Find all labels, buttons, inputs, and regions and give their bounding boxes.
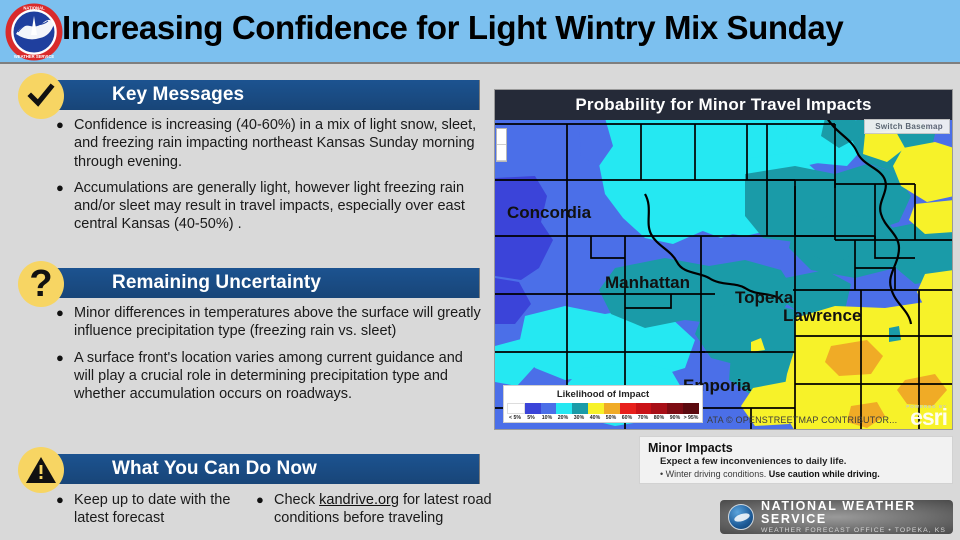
legend-swatch [507, 403, 525, 414]
section-header-what-you-can-do-now: What You Can Do Now [44, 454, 480, 484]
legend-swatch [667, 403, 683, 414]
legend-label: 90% [667, 415, 683, 421]
badge-text-group: NATIONAL WEATHER SERVICE WEATHER FORECAS… [761, 500, 953, 534]
svg-text:NATIONAL: NATIONAL [23, 6, 45, 11]
probability-map[interactable]: Probability for Minor Travel Impacts [494, 89, 953, 430]
bullet-dot-icon: ● [56, 304, 74, 341]
esri-wordmark: esri [906, 409, 947, 427]
bullet-list-remaining-uncertainty: ● Minor differences in temperatures abov… [56, 304, 486, 411]
legend-title: Likelihood of Impact [504, 389, 702, 400]
legend-swatch [556, 403, 572, 414]
map-title: Probability for Minor Travel Impacts [575, 95, 871, 115]
question-mark-icon: ? [18, 261, 64, 307]
nws-seal-icon: NATIONAL WEATHER SERVICE [4, 2, 64, 62]
bullet-dot-icon: ● [56, 116, 74, 171]
bullet-dot-icon: ● [56, 179, 74, 234]
map-attribution: ATA © OPENSTREETMAP CONTRIBUTOR... [707, 415, 897, 425]
legend-swatch [525, 403, 541, 414]
legend-swatch [541, 403, 557, 414]
legend-label: 70% [635, 415, 651, 421]
legend-label: 5% [523, 415, 539, 421]
left-content-panel: Key Messages ● Confidence is increasing … [0, 64, 492, 540]
badge-agency-name: NATIONAL WEATHER SERVICE [761, 500, 953, 526]
legend-swatch [572, 403, 588, 414]
legend-swatch [588, 403, 604, 414]
header-banner: NATIONAL WEATHER SERVICE Increasing Conf… [0, 0, 960, 64]
bullet-dot-icon: ● [56, 491, 74, 528]
check-icon [18, 73, 64, 119]
bullet-list-key-messages: ● Confidence is increasing (40-60%) in a… [56, 116, 486, 242]
map-legend: Likelihood of Impact < 5% 5% 10% 20% [503, 385, 703, 423]
legend-label: > 95% [683, 415, 699, 421]
legend-labels: < 5% 5% 10% 20% 30% 40% 50% 60% 70% 80% … [507, 415, 699, 421]
warning-triangle-icon [18, 447, 64, 493]
legend-swatch [604, 403, 620, 414]
bullet-text: Keep up to date with the latest forecast [74, 491, 256, 528]
badge-office-name: WEATHER FORECAST OFFICE • TOPEKA, KS [761, 527, 953, 534]
page-title: Increasing Confidence for Light Wintry M… [62, 9, 957, 47]
legend-swatch [683, 403, 699, 414]
nws-office-badge: NATIONAL WEATHER SERVICE WEATHER FORECAS… [720, 500, 953, 534]
legend-label: 60% [619, 415, 635, 421]
section-title-key-messages: Key Messages [112, 84, 244, 106]
list-item: ● Accumulations are generally light, how… [56, 179, 486, 234]
legend-swatch [636, 403, 652, 414]
legend-swatch [651, 403, 667, 414]
city-label-lawrence: Lawrence [783, 306, 861, 326]
switch-basemap-button[interactable]: Switch Basemap [864, 119, 950, 134]
section-header-remaining-uncertainty: Remaining Uncertainty [44, 268, 480, 298]
city-label-manhattan: Manhattan [605, 273, 690, 293]
section-header-key-messages: Key Messages [44, 80, 480, 110]
legend-label: 20% [555, 415, 571, 421]
impact-detail: • Winter driving conditions. Use caution… [660, 469, 944, 479]
city-label-topeka: Topeka [735, 288, 793, 308]
bullet-text-kandrive: Check kandrive.org for latest road condi… [274, 491, 496, 528]
legend-label: 50% [603, 415, 619, 421]
bullet-text: Confidence is increasing (40-60%) in a m… [74, 116, 486, 171]
bullet-dot-icon: ● [256, 491, 274, 528]
map-canvas[interactable]: Concordia Manhattan Topeka Lawrence Empo… [495, 118, 953, 430]
svg-text:WEATHER SERVICE: WEATHER SERVICE [14, 54, 55, 59]
impact-detail-pre: • Winter driving conditions. [660, 469, 769, 479]
legend-label: < 5% [507, 415, 523, 421]
kandrive-link[interactable]: kandrive.org [319, 492, 399, 508]
zoom-in-button[interactable] [497, 129, 506, 145]
bullet-dot-icon: ● [56, 349, 74, 404]
bullet-text: Minor differences in temperatures above … [74, 304, 486, 341]
noaa-globe-icon [728, 504, 754, 530]
legend-label: 40% [587, 415, 603, 421]
impact-detail-bold: Use caution while driving. [769, 469, 880, 479]
bullet-text: Accumulations are generally light, howev… [74, 179, 486, 234]
section-title-remaining-uncertainty: Remaining Uncertainty [112, 272, 321, 294]
esri-logo: POWERED BY esri [906, 404, 947, 427]
map-title-bar: Probability for Minor Travel Impacts [495, 90, 952, 120]
city-label-concordia: Concordia [507, 203, 591, 223]
bullet-text: A surface front's location varies among … [74, 349, 486, 404]
bullet-list-actions-column-1: ● Keep up to date with the latest foreca… [56, 491, 256, 536]
kandrive-prefix: Check [274, 492, 319, 508]
list-item: ● Minor differences in temperatures abov… [56, 304, 486, 341]
legend-label: 10% [539, 415, 555, 421]
legend-swatch [620, 403, 636, 414]
section-title-what-you-can-do-now: What You Can Do Now [112, 458, 317, 480]
impact-title: Minor Impacts [648, 441, 944, 455]
impact-description: Expect a few inconveniences to daily lif… [660, 456, 944, 467]
list-item: ● Check kandrive.org for latest road con… [256, 491, 496, 528]
legend-label: 30% [571, 415, 587, 421]
list-item: ● Confidence is increasing (40-60%) in a… [56, 116, 486, 171]
map-zoom-control[interactable] [496, 128, 507, 162]
infographic-slide: NATIONAL WEATHER SERVICE Increasing Conf… [0, 0, 960, 540]
legend-label: 80% [651, 415, 667, 421]
bullet-list-actions-column-2: ● Check kandrive.org for latest road con… [256, 491, 496, 536]
legend-swatches [507, 403, 699, 414]
list-item: ● A surface front's location varies amon… [56, 349, 486, 404]
zoom-out-button[interactable] [497, 145, 506, 161]
minor-impacts-box: Minor Impacts Expect a few inconvenience… [639, 436, 953, 484]
list-item: ● Keep up to date with the latest foreca… [56, 491, 256, 528]
